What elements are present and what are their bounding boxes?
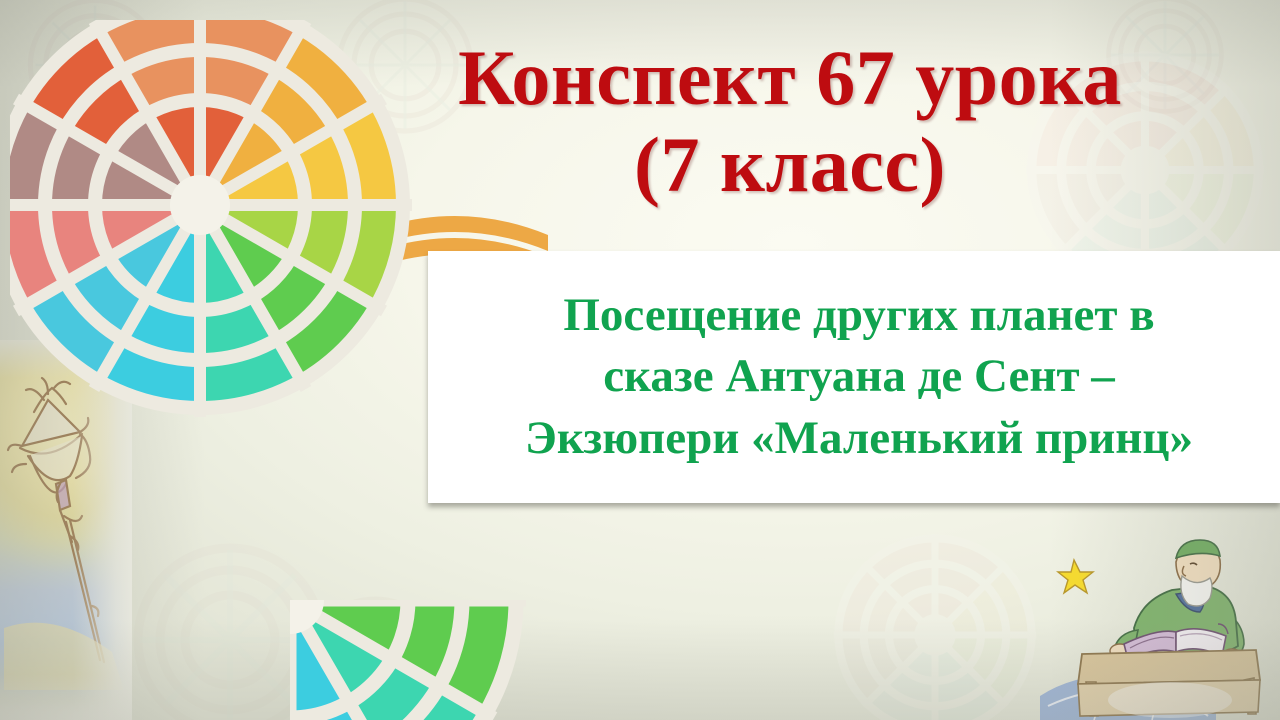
star-icon (1058, 560, 1093, 593)
street-lamp-illustration (0, 340, 132, 720)
slide-subtitle-line-3: Экзюпери «Маленький принц» (438, 408, 1280, 469)
open-book-icon (1124, 624, 1228, 660)
ghost-wheel-topleft (10, 0, 180, 150)
slide-subtitle-line-2: сказе Антуана де Сент – (438, 346, 1280, 407)
desk-icon (1078, 650, 1260, 718)
ghost-wheel-bottomcenter (300, 595, 450, 720)
subtitle-card: Посещение других планет в сказе Антуана … (428, 251, 1280, 503)
ghost-wheel-bottomright (820, 520, 1050, 720)
slide-title: Конспект 67 урока (7 класс) (340, 34, 1240, 209)
lamp-edge-fade (0, 340, 132, 720)
slide-title-line-2: (7 класс) (340, 121, 1240, 208)
geographer-reading-book-illustration (1030, 520, 1280, 720)
presentation-slide: Конспект 67 урока (7 класс) Посещение др… (0, 0, 1280, 720)
slide-subtitle-line-1: Посещение других планет в (438, 285, 1280, 346)
magnifier-icon (1177, 658, 1226, 674)
globe-icon (1040, 675, 1216, 720)
slide-title-line-1: Конспект 67 урока (340, 34, 1240, 121)
ghost-wheel-midleft (130, 540, 330, 720)
slide-subtitle: Посещение других планет в сказе Антуана … (438, 285, 1280, 468)
